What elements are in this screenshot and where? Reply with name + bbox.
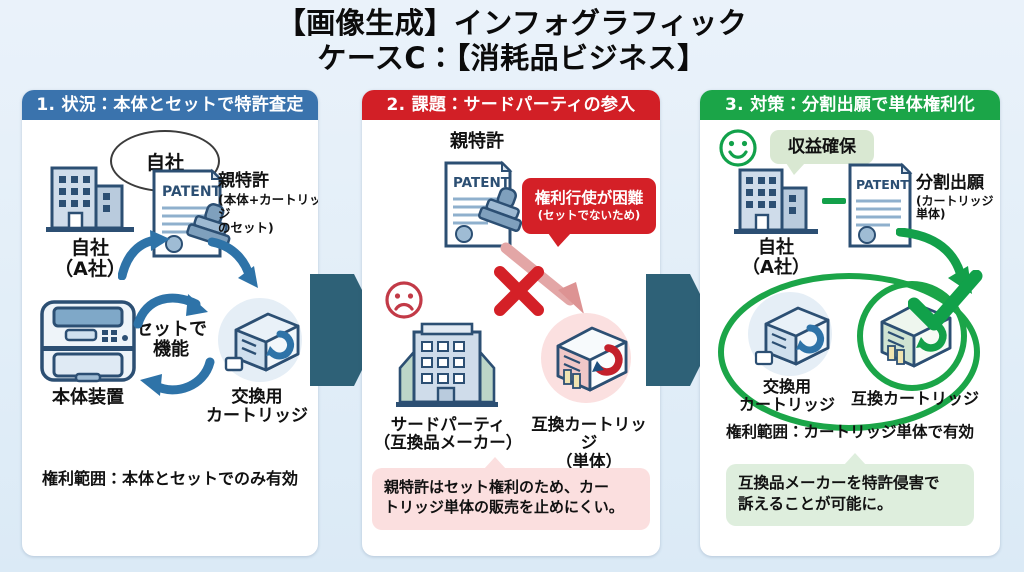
divisional-application-label-main: 分割出願 xyxy=(916,174,1000,193)
third-party-label: サードパーティ （互換品メーカー） xyxy=(366,416,530,453)
company-building-icon xyxy=(44,160,136,236)
panel-solution-note-line-1: 互換品メーカーを特許侵害で xyxy=(738,473,962,494)
flow-arrow-building-to-patent xyxy=(118,228,174,280)
profit-secured-callout: 収益確保 xyxy=(770,130,874,164)
cartridge-exchange-label: 交換用 カートリッジ xyxy=(728,378,846,414)
rights-difficult-callout: 権利行使が困難 (セットでないため) xyxy=(522,178,656,234)
sad-face-icon xyxy=(384,280,424,320)
cartridge-icon-exchange xyxy=(206,292,310,392)
panel-situation-footer: 権利範囲：本体とセットでのみ有効 xyxy=(30,470,310,488)
rights-difficult-callout-main: 権利行使が困難 xyxy=(535,189,644,208)
panel-problem-note-line-2: トリッジ単体の販売を止めにくい。 xyxy=(384,497,638,517)
cartridge-exchange-label: 交換用 カートリッジ xyxy=(198,388,316,426)
panel-solution: 3. 対策：分割出願で単体権利化 収益確保 xyxy=(700,90,1000,556)
panel-situation-header: 1. 状況：本体とセットで特許査定 xyxy=(22,90,318,120)
parent-patent-label: 親特許 (本体+カートリッジ のセット) xyxy=(218,172,318,235)
profit-secured-callout-label: 収益確保 xyxy=(788,137,856,157)
infographic-canvas: 【画像生成】インフォグラフィック ケースC：【消耗品ビジネス】 1. 状況：本体… xyxy=(0,0,1024,572)
panel-solution-body: 収益確保 自社 （A社） xyxy=(700,120,1000,556)
title-line-1: 【画像生成】インフォグラフィック xyxy=(0,6,1024,41)
company-label-line-1: 自社 xyxy=(720,238,832,258)
cartridge-exchange-label-line-1: 交換用 xyxy=(198,388,316,407)
parent-patent-label-sub-2: のセット) xyxy=(218,221,318,235)
printer-device-icon xyxy=(36,290,140,386)
panel-solution-note-line-2: 訴えることが可能に。 xyxy=(738,494,962,515)
compatible-cartridge-label: 互換カートリッジ （単体） xyxy=(524,416,654,471)
panel-problem: 2. 課題：サードパーティの参入 親特許 PATENT xyxy=(362,90,660,556)
panel-solution-note: 互換品メーカーを特許侵害で 訴えることが可能に。 xyxy=(726,464,974,526)
cartridge-icon-exchange xyxy=(736,286,840,386)
printer-device-label: 本体装置 xyxy=(32,388,144,408)
smiley-face-icon xyxy=(718,128,758,168)
panel-problem-body: 親特許 PATENT xyxy=(362,120,660,556)
rights-scope-text: 権利範囲：カートリッジ単体で有効 xyxy=(706,424,994,441)
compatible-cartridge-label: 互換カートリッジ xyxy=(842,390,988,408)
cartridge-exchange-label-line-2: カートリッジ xyxy=(728,396,846,414)
flow-arrow-patent-to-cartridge xyxy=(208,236,262,294)
divisional-application-label-sub: (カートリッジ単体) xyxy=(916,195,1000,222)
third-party-building-icon xyxy=(394,318,500,410)
rights-difficult-callout-sub: (セットでないため) xyxy=(538,209,641,223)
third-party-label-line-2: （互換品メーカー） xyxy=(366,434,530,452)
company-building-icon xyxy=(732,164,820,238)
panel-solution-header: 3. 対策：分割出願で単体権利化 xyxy=(700,90,1000,120)
page-title: 【画像生成】インフォグラフィック ケースC：【消耗品ビジネス】 xyxy=(0,6,1024,77)
cartridge-icon-compatible xyxy=(528,308,640,414)
panel-situation: 1. 状況：本体とセットで特許査定 自社 xyxy=(22,90,318,556)
panel-situation-body: 自社 自社 xyxy=(22,120,318,556)
check-mark-icon xyxy=(908,270,984,336)
cartridge-exchange-label-line-1: 交換用 xyxy=(728,378,846,396)
title-line-2: ケースC：【消耗品ビジネス】 xyxy=(0,41,1024,76)
cartridge-exchange-label-line-2: カートリッジ xyxy=(198,407,316,426)
third-party-label-line-1: サードパーティ xyxy=(366,416,530,434)
divisional-application-label: 分割出願 (カートリッジ単体) xyxy=(916,174,1000,222)
panel-problem-note-line-1: 親特許はセット権利のため、カー xyxy=(384,477,638,497)
company-patent-connector xyxy=(822,198,846,204)
panel-problem-header: 2. 課題：サードパーティの参入 xyxy=(362,90,660,120)
problem-patent-label: 親特許 xyxy=(432,132,522,152)
svg-text:PATENT: PATENT xyxy=(162,184,222,200)
svg-text:PATENT: PATENT xyxy=(856,177,909,192)
parent-patent-label-main: 親特許 xyxy=(218,172,318,191)
panel-problem-note: 親特許はセット権利のため、カー トリッジ単体の販売を止めにくい。 xyxy=(372,468,650,530)
compatible-cartridge-label-line-1: 互換カートリッジ xyxy=(524,416,654,453)
parent-patent-label-sub-1: (本体+カートリッジ xyxy=(218,193,318,221)
